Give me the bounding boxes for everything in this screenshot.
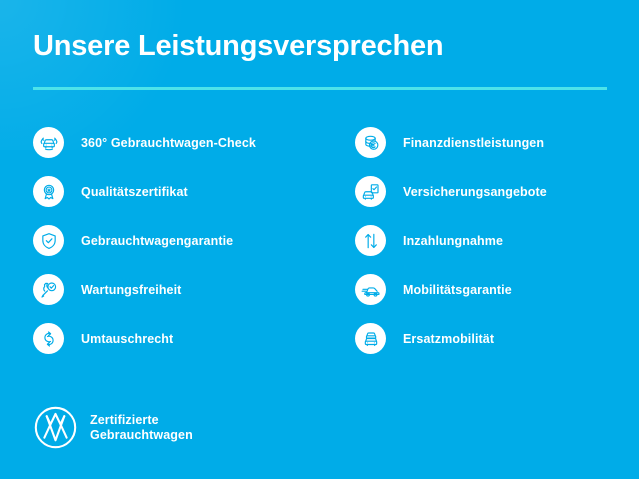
promise-item-360-check: 360° Gebrauchtwagen-Check xyxy=(33,118,317,167)
promise-item-versicherungsangebote: Versicherungsangebote xyxy=(355,167,639,216)
promise-item-gebrauchtwagengarantie: Gebrauchtwagengarantie xyxy=(33,216,317,265)
car-document-check-icon xyxy=(355,176,386,207)
promise-label: Finanzdienstleistungen xyxy=(403,136,544,150)
exchange-arrows-icon xyxy=(33,323,64,354)
promise-item-ersatzmobilitaet: Ersatzmobilität xyxy=(355,314,639,363)
promise-label: Wartungsfreiheit xyxy=(81,283,181,297)
two-cars-icon xyxy=(355,323,386,354)
promise-label: Ersatzmobilität xyxy=(403,332,494,346)
promise-label: Versicherungsangebote xyxy=(403,185,547,199)
award-rosette-icon xyxy=(33,176,64,207)
coins-euro-icon xyxy=(355,127,386,158)
promise-label: Qualitätszertifikat xyxy=(81,185,188,199)
promise-item-wartungsfreiheit: Wartungsfreiheit xyxy=(33,265,317,314)
promise-item-mobilitaetsgarantie: Mobilitätsgarantie xyxy=(355,265,639,314)
promise-item-inzahlungnahme: Inzahlungnahme xyxy=(355,216,639,265)
wrench-check-icon xyxy=(33,274,64,305)
promise-item-finanzdienstleistungen: Finanzdienstleistungen xyxy=(355,118,639,167)
footer-line-2: Gebrauchtwagen xyxy=(90,428,193,443)
car-360-check-icon xyxy=(33,127,64,158)
promise-label: Umtauschrecht xyxy=(81,332,173,346)
promises-right-column: Finanzdienstleistungen Versicheru xyxy=(317,118,639,363)
promise-label: 360° Gebrauchtwagen-Check xyxy=(81,136,256,150)
promises-poster: Unsere Leistungsversprechen xyxy=(0,0,639,479)
promise-label: Mobilitätsgarantie xyxy=(403,283,512,297)
footer-brand: Zertifizierte Gebrauchtwagen xyxy=(33,405,193,450)
volkswagen-roundel-logo xyxy=(33,405,78,450)
promises-left-column: 360° Gebrauchtwagen-Check Qualitätszerti… xyxy=(0,118,317,363)
promise-item-umtauschrecht: Umtauschrecht xyxy=(33,314,317,363)
up-down-arrows-icon xyxy=(355,225,386,256)
page-title: Unsere Leistungsversprechen xyxy=(33,30,443,63)
footer-brand-text: Zertifizierte Gebrauchtwagen xyxy=(90,413,193,443)
shield-check-icon xyxy=(33,225,64,256)
promises-columns: 360° Gebrauchtwagen-Check Qualitätszerti… xyxy=(0,118,639,363)
footer-line-1: Zertifizierte xyxy=(90,413,193,428)
promise-label: Inzahlungnahme xyxy=(403,234,503,248)
promise-item-qualitaetszertifikat: Qualitätszertifikat xyxy=(33,167,317,216)
title-divider xyxy=(33,87,607,90)
car-motion-icon xyxy=(355,274,386,305)
promise-label: Gebrauchtwagengarantie xyxy=(81,234,233,248)
